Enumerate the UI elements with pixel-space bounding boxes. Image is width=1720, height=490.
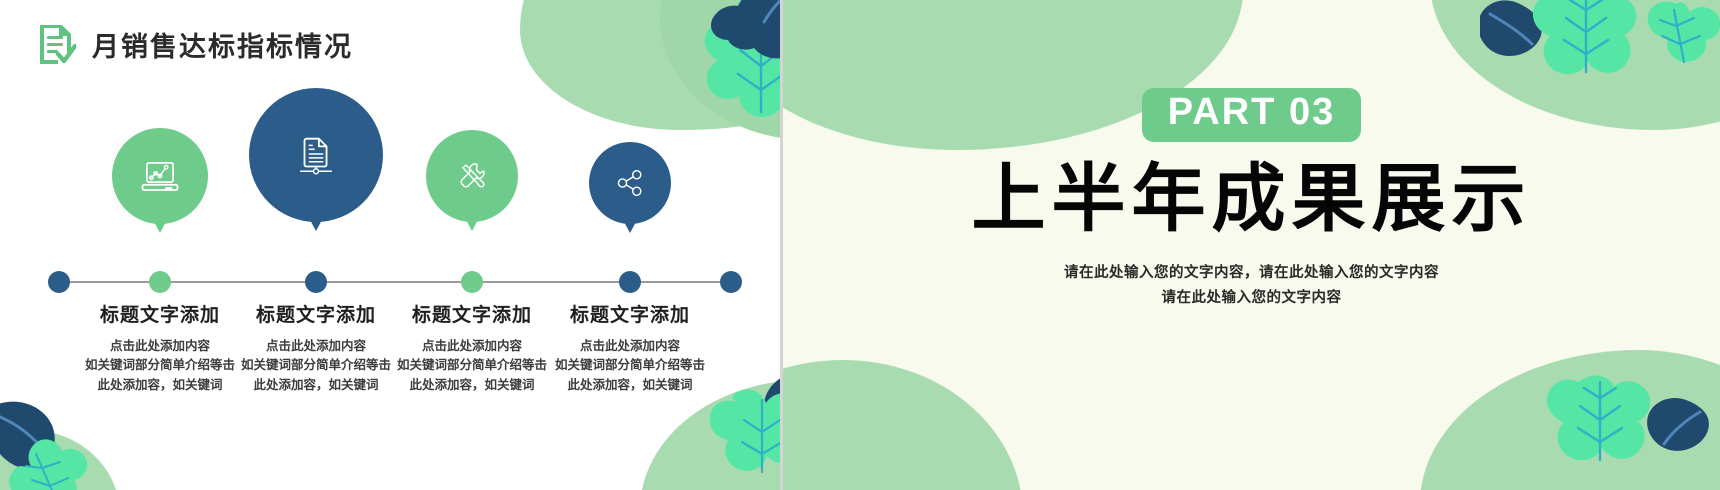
timeline-dot-3 bbox=[461, 271, 483, 293]
text-line: 此处添加容，如关键词 bbox=[523, 376, 738, 395]
slide-divider bbox=[780, 0, 783, 490]
text-line: 如关键词部分简单介绍等击 bbox=[523, 356, 738, 375]
timeline-end-dot-left bbox=[48, 271, 70, 293]
timeline-node-title: 标题文字添加 bbox=[525, 300, 735, 327]
slide-left: 月销售达标指标情况 bbox=[0, 0, 780, 490]
timeline-bubble-3[interactable] bbox=[426, 130, 518, 222]
subtitle-line-1: 请在此处输入您的文字内容，请在此处输入您的文字内容 bbox=[1064, 261, 1439, 286]
laptop-chart-icon bbox=[139, 155, 181, 197]
timeline-dot-4 bbox=[619, 271, 641, 293]
document-icon bbox=[293, 132, 339, 178]
timeline-end-dot-right bbox=[720, 271, 742, 293]
page-header: 月销售达标指标情况 bbox=[36, 22, 353, 66]
page-title: 月销售达标指标情况 bbox=[92, 25, 353, 64]
timeline-bubble-1[interactable] bbox=[112, 128, 208, 224]
section-title: 上半年成果展示 bbox=[972, 158, 1532, 239]
subtitle-line-2: 请在此处输入您的文字内容 bbox=[1064, 286, 1439, 311]
text-line: 点击此处添加内容 bbox=[523, 337, 738, 356]
timeline-dot-2 bbox=[305, 271, 327, 293]
document-check-icon bbox=[36, 22, 76, 66]
timeline: 标题文字添加 点击此处添加内容如关键词部分简单介绍等击此处添加容，如关键词 bbox=[0, 0, 780, 490]
timeline-node-body: 点击此处添加内容如关键词部分简单介绍等击此处添加容，如关键词 bbox=[523, 337, 738, 395]
share-network-icon bbox=[612, 165, 648, 201]
timeline-bubble-4[interactable] bbox=[589, 142, 671, 224]
right-slide-content: PART 03 上半年成果展示 请在此处输入您的文字内容，请在此处输入您的文字内… bbox=[783, 0, 1720, 490]
slide-deck: 月销售达标指标情况 bbox=[0, 0, 1720, 490]
slide-right: PART 03 上半年成果展示 请在此处输入您的文字内容，请在此处输入您的文字内… bbox=[783, 0, 1720, 490]
part-badge: PART 03 bbox=[1142, 88, 1361, 142]
tools-icon bbox=[452, 156, 492, 196]
timeline-dot-1 bbox=[149, 271, 171, 293]
section-subtitle: 请在此处输入您的文字内容，请在此处输入您的文字内容 请在此处输入您的文字内容 bbox=[1064, 261, 1439, 310]
timeline-bubble-2[interactable] bbox=[249, 88, 383, 222]
